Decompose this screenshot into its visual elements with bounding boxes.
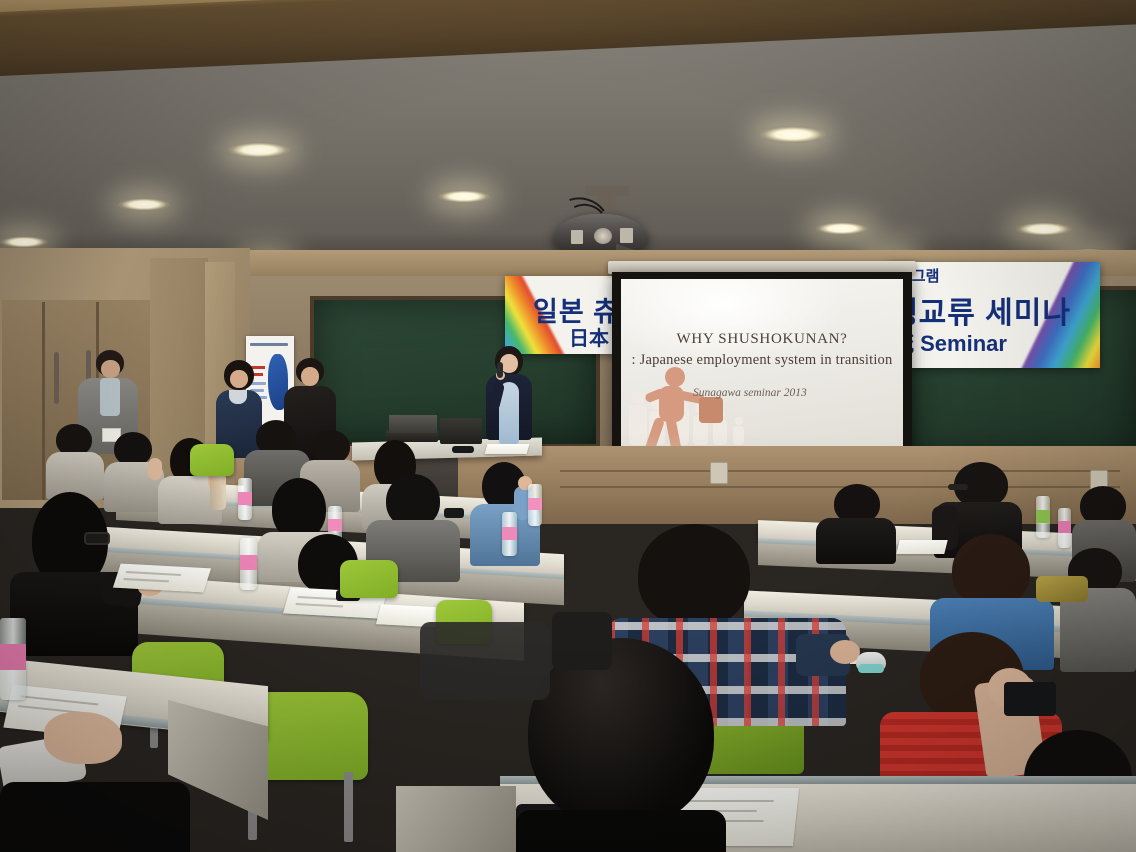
door-seam-1 (42, 302, 45, 500)
navy-top-face (230, 370, 248, 388)
l2a-hair (272, 478, 326, 540)
chair-5[interactable] (436, 600, 492, 644)
chair-2[interactable] (340, 560, 398, 598)
audience-right-greyshirt (1060, 548, 1136, 668)
water-bottle-front-left (0, 618, 26, 700)
bottle-label-3 (502, 527, 517, 540)
ceiling-light-2 (118, 198, 170, 211)
poster-heading-line (250, 343, 288, 346)
lecture-hall-photo: 일본 츄오 日本 中 로그램 생교류 세미나 流 Seminar 3호 (0, 0, 1136, 852)
projector-vent-left (571, 230, 583, 244)
projector-vent-right (620, 228, 633, 243)
navy-top-collar (229, 390, 247, 404)
podium-laptop-screen (389, 415, 437, 433)
ceiling-light-7 (1016, 222, 1072, 236)
water-bottle-left-1 (238, 478, 252, 520)
front-left-body (0, 782, 190, 852)
plaid-hair (638, 524, 750, 628)
ceiling-light-5 (816, 222, 868, 235)
microphone (497, 362, 503, 378)
ceiling-light-1 (228, 142, 290, 158)
paper-fl-line-1 (20, 695, 98, 705)
coffee-cup-1 (210, 476, 226, 510)
l1b-hair (114, 432, 152, 466)
banner-right: 로그램 생교류 세미나 流 Seminar 3호 (888, 262, 1100, 368)
bottle-label-1 (238, 492, 252, 505)
desk-side-panel-front (396, 786, 516, 852)
phone-on-desk-1[interactable] (444, 508, 464, 518)
ceiling-light-3 (438, 190, 490, 203)
podium-remote (452, 446, 474, 453)
foreground-body (516, 810, 726, 852)
slide-credit: Sunagawa seminar 2013 (693, 387, 807, 399)
audience-front-left-hands (0, 712, 190, 852)
businessman-head (665, 367, 685, 387)
water-bottle-right-2 (1058, 508, 1071, 548)
presenter-with-microphone (478, 346, 540, 456)
grey-jacket-face (101, 360, 120, 378)
ceiling-light-9 (0, 236, 48, 248)
bottle-label-5 (240, 555, 257, 570)
camera-phone[interactable] (1004, 682, 1056, 716)
chair-1[interactable] (190, 444, 234, 476)
mouse-front (858, 664, 884, 673)
l1e-hair (312, 430, 350, 464)
bottle-label-4 (528, 498, 542, 510)
podium-monitor (440, 418, 482, 444)
bottle-label-green (1036, 510, 1050, 523)
foreground-hair (528, 638, 714, 828)
paper-line-a1 (126, 571, 182, 576)
door-handle-left[interactable] (54, 352, 59, 404)
wall-outlet-1 (710, 462, 728, 484)
brownhair-hair (952, 534, 1030, 608)
paper-line-a2 (123, 578, 169, 582)
ceiling-light-4 (760, 126, 826, 143)
audience-foreground-center (516, 638, 726, 852)
water-bottle-left-5 (240, 538, 257, 590)
water-bottle-left-4 (528, 484, 542, 526)
water-bottle-right-1 (1036, 496, 1050, 538)
water-bottle-left-3 (502, 512, 517, 556)
crowd-head-6 (735, 417, 743, 425)
audience-left-row1-a (46, 424, 106, 498)
front-left-hand (44, 712, 122, 764)
glasses-woman-eyeglasses-icon (84, 532, 110, 545)
slide-subtitle: : Japanese employment system in transiti… (621, 352, 903, 369)
businessman-briefcase (699, 397, 723, 423)
bottle-label-pink (1058, 521, 1071, 533)
projector-lens (594, 228, 612, 244)
paper-line-b2 (295, 603, 343, 608)
slide-title: WHY SHUSHOKUNAN? (621, 331, 903, 348)
bottle-label-front (0, 644, 26, 670)
black-shirt-face (301, 367, 319, 386)
wainscot-line-1 (560, 470, 1120, 472)
grey-jacket-shirt (100, 378, 120, 416)
eyeglasses-icon (948, 484, 968, 490)
paper-left-3-a (113, 564, 211, 593)
chair-leg-2 (344, 772, 353, 842)
bag-on-desk (1036, 576, 1088, 602)
